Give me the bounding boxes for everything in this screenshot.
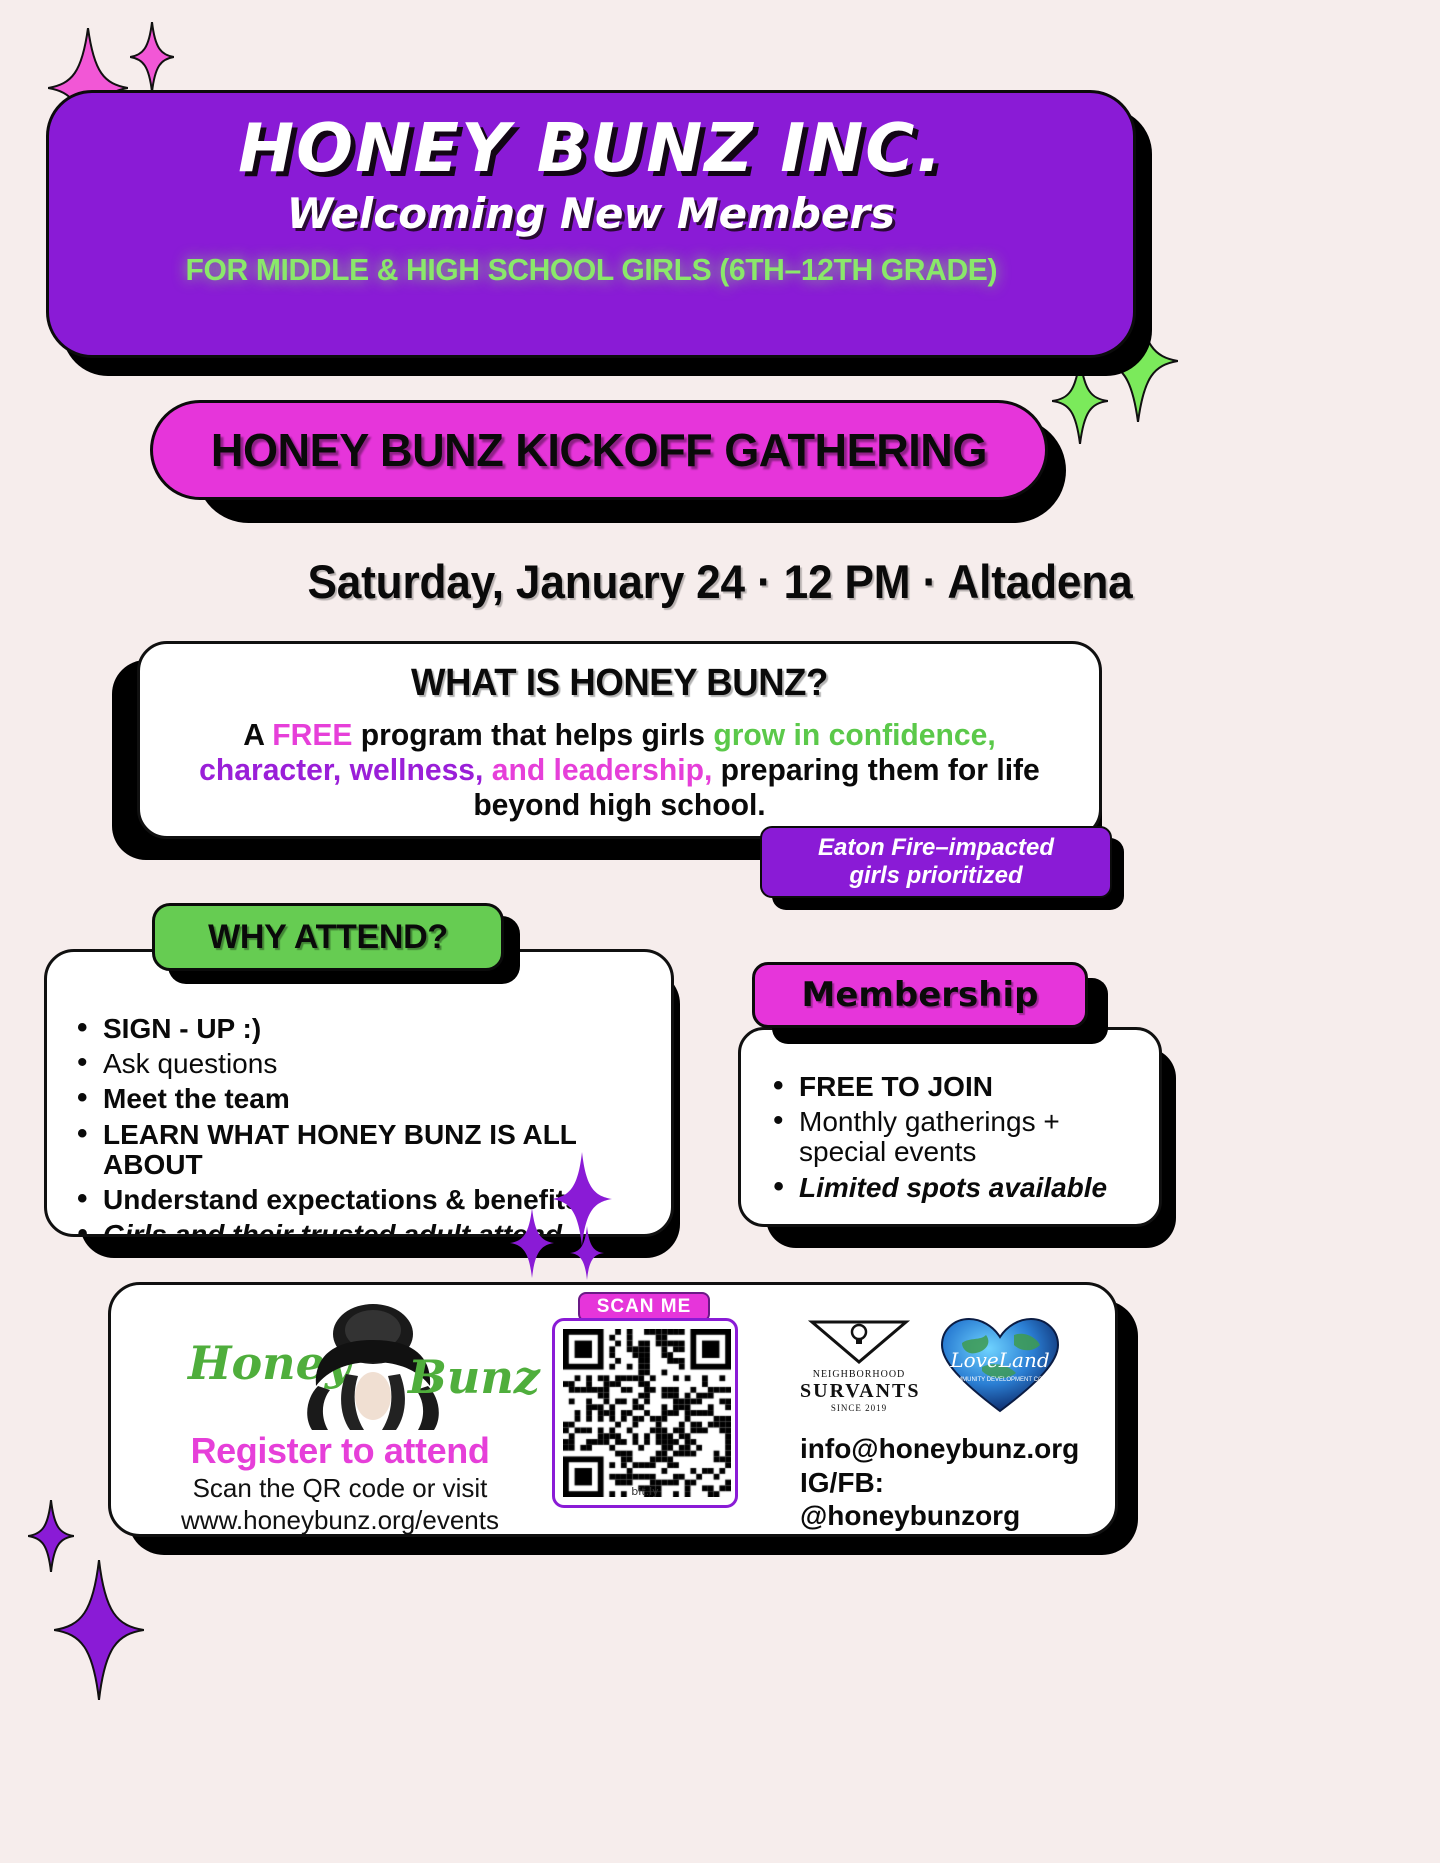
what-is-heading: WHAT IS HONEY BUNZ? — [182, 662, 1057, 705]
scan-me-label: SCAN ME — [597, 1296, 692, 1318]
logo-word-bunz: Bunz — [408, 1350, 540, 1404]
list-item: Monthly gatherings + special events — [765, 1107, 1145, 1167]
contact-social: IG/FB: @honeybunzorg — [800, 1466, 1100, 1533]
why-attend-tab: WHY ATTEND? — [152, 903, 504, 971]
contact-block: info@honeybunz.org IG/FB: @honeybunzorg — [800, 1432, 1100, 1533]
sparkle-icon — [54, 1560, 144, 1700]
list-item: Understand expectations & benefits — [69, 1185, 655, 1215]
wi-green-1: grow in confidence, — [713, 717, 995, 752]
partner-logos: NEIGHBORHOOD SURVANTS SINCE 2019 LoveLan… — [800, 1310, 1080, 1420]
membership-list: FREE TO JOIN Monthly gatherings + specia… — [765, 1072, 1145, 1203]
page-title: HONEY BUNZ INC. — [238, 113, 944, 183]
eaton-badge-line1: Eaton Fire–impacted — [818, 834, 1054, 862]
loveland-logo: LoveLand COMMUNITY DEVELOPMENT CORP. — [936, 1315, 1064, 1415]
loveland-subtitle: COMMUNITY DEVELOPMENT CORP. — [948, 1377, 1052, 1383]
list-item: Meet the team — [69, 1084, 655, 1114]
wi-part-1: A — [243, 717, 272, 752]
header-subtitle: Welcoming New Members — [287, 189, 895, 238]
partner-line-2: SURVANTS — [800, 1380, 918, 1403]
why-attend-tab-label: WHY ATTEND? — [208, 918, 448, 957]
contact-email[interactable]: info@honeybunz.org — [800, 1432, 1100, 1466]
honeybunz-logo: Honey Bunz — [178, 1300, 498, 1440]
loveland-wordmark: LoveLand — [949, 1348, 1049, 1372]
wi-purple-1: character, — [199, 752, 341, 787]
sparkle-icon — [130, 22, 174, 92]
kickoff-banner-label: HONEY BUNZ KICKOFF GATHERING — [211, 423, 987, 477]
sparkle-icon — [28, 1500, 74, 1572]
membership-tab: Membership — [752, 962, 1088, 1028]
header-banner: HONEY BUNZ INC. Welcoming New Members FO… — [46, 90, 1136, 358]
survants-mark-icon — [804, 1318, 914, 1364]
membership-card: FREE TO JOIN Monthly gatherings + specia… — [738, 1027, 1162, 1227]
membership-tab-label: Membership — [802, 975, 1039, 1015]
partner-line-1: NEIGHBORHOOD — [800, 1369, 918, 1380]
register-line-1: Scan the QR code or visit — [170, 1474, 510, 1504]
why-attend-list: SIGN - UP :) Ask questions Meet the team… — [69, 1014, 655, 1237]
register-line-2: www.honeybunz.org/events — [170, 1506, 510, 1536]
list-item: Limited spots available — [765, 1173, 1145, 1203]
what-is-card: WHAT IS HONEY BUNZ? A FREE program that … — [137, 641, 1102, 839]
what-is-body: A FREE program that helps girls grow in … — [178, 717, 1062, 822]
flyer-poster: HONEY BUNZ INC. Welcoming New Members FO… — [0, 0, 1440, 1863]
kickoff-banner: HONEY BUNZ KICKOFF GATHERING — [150, 400, 1048, 500]
why-attend-card: SIGN - UP :) Ask questions Meet the team… — [44, 949, 674, 1237]
neighborhood-survants-logo: NEIGHBORHOOD SURVANTS SINCE 2019 — [800, 1318, 918, 1413]
list-item: Girls and their trusted adult attend tog… — [69, 1220, 655, 1237]
list-item: Ask questions — [69, 1049, 655, 1079]
list-item: LEARN WHAT HONEY BUNZ IS ALL ABOUT — [69, 1120, 655, 1180]
event-dateline: Saturday, January 24 · 12 PM · Altadena — [43, 554, 1397, 609]
qr-code[interactable] — [552, 1318, 738, 1508]
partner-line-3: SINCE 2019 — [800, 1403, 918, 1413]
wi-purple-2: wellness, — [350, 752, 484, 787]
wi-free: FREE — [272, 717, 352, 752]
wi-pink-1: and leadership, — [483, 752, 712, 787]
list-item: FREE TO JOIN — [765, 1072, 1145, 1102]
wi-part-2: program that helps girls — [352, 717, 713, 752]
eaton-badge-line2: girls prioritized — [849, 862, 1022, 890]
eaton-fire-badge: Eaton Fire–impacted girls prioritized — [760, 826, 1112, 898]
register-block: Register to attend Scan the QR code or v… — [170, 1430, 510, 1535]
list-item: SIGN - UP :) — [69, 1014, 655, 1044]
qr-caption: bit.ly — [552, 1485, 738, 1498]
register-title: Register to attend — [170, 1430, 510, 1472]
header-grades: FOR MIDDLE & HIGH SCHOOL GIRLS (6TH–12TH… — [185, 252, 997, 288]
